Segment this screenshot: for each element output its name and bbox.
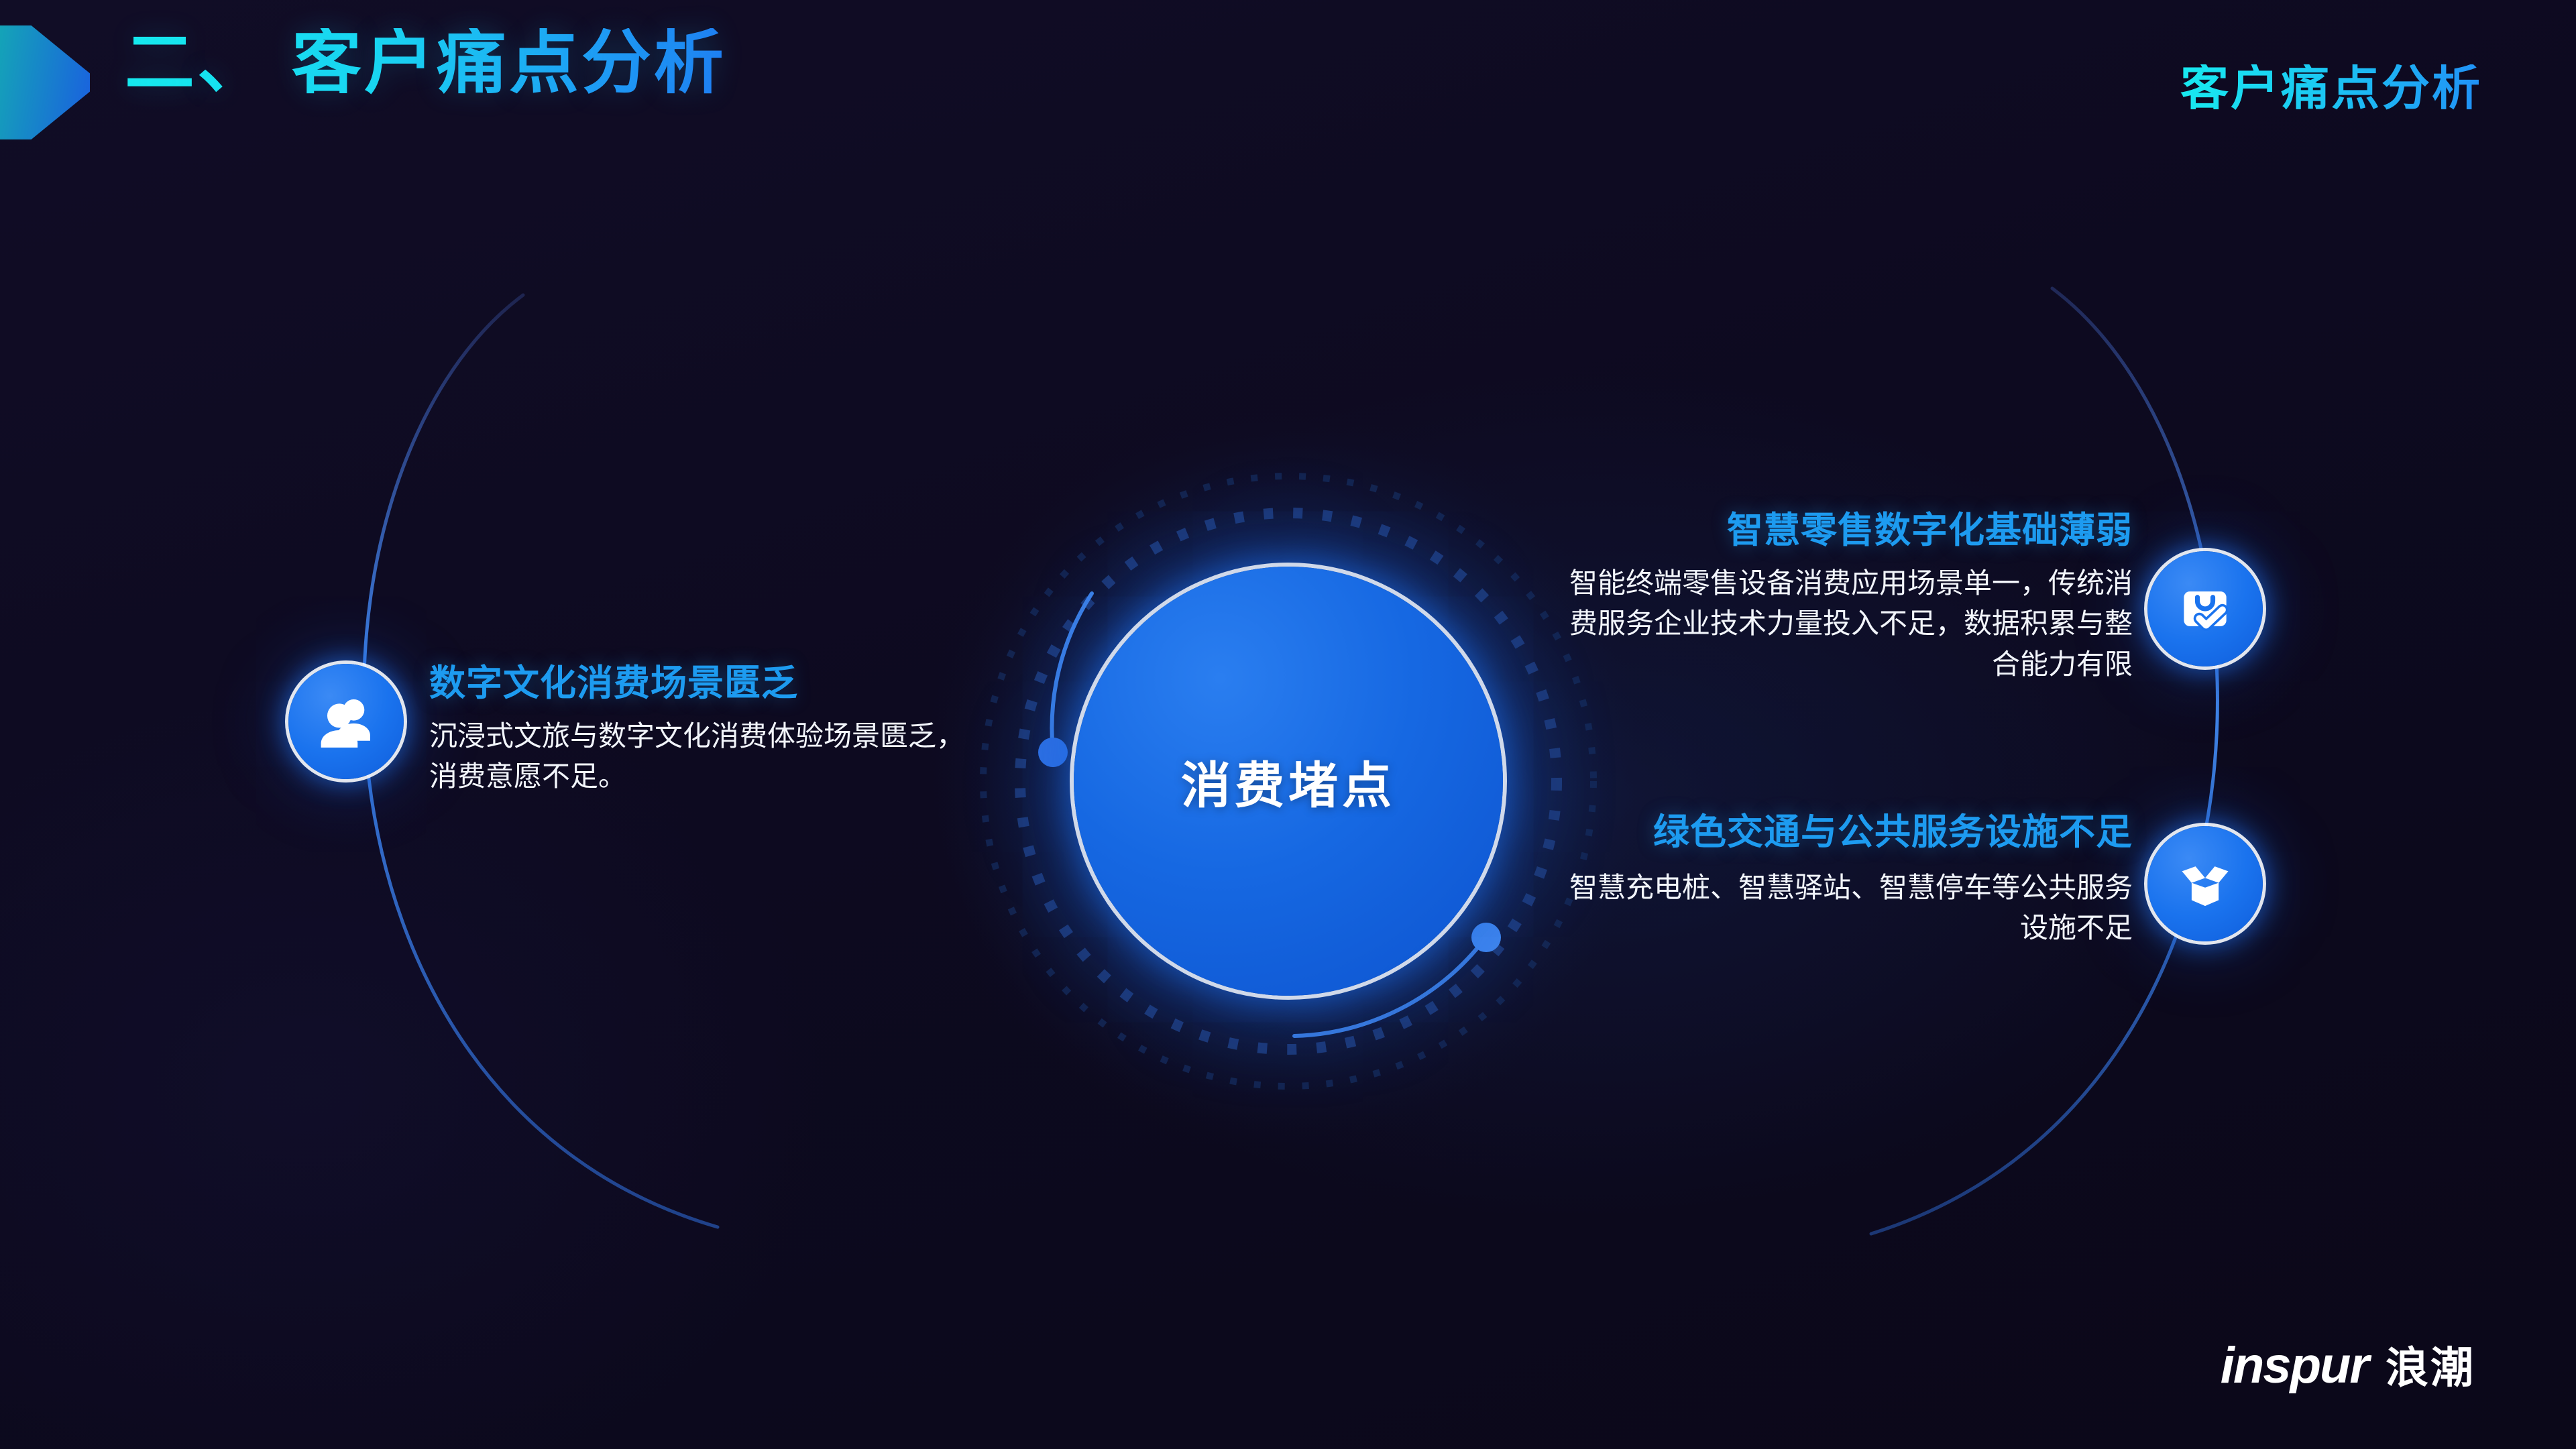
page-title: 二、 客户痛点分析	[125, 28, 726, 98]
text-block-right-bottom: 绿色交通与公共服务设施不足 智慧充电桩、智慧驿站、智慧停车等公共服务设施不足	[1556, 811, 2133, 949]
node-right-bottom-title: 绿色交通与公共服务设施不足	[1556, 811, 2133, 854]
logo-wordmark: inspur	[2221, 1336, 2368, 1395]
corner-chevron-decoration	[0, 25, 90, 139]
node-right-bottom[interactable]	[2147, 826, 2263, 941]
slide-canvas: 二、 客户痛点分析 客户痛点分析	[0, 0, 2576, 1449]
node-right-top[interactable]	[2147, 551, 2263, 666]
node-right-bottom-desc: 智慧充电桩、智慧驿站、智慧停车等公共服务设施不足	[1556, 868, 2133, 949]
text-block-right-top: 智慧零售数字化基础薄弱 智能终端零售设备消费应用场景单一，传统消费服务企业技术力…	[1556, 510, 2133, 685]
center-node-label: 消费堵点	[1181, 746, 1396, 817]
header-right-label: 客户痛点分析	[2180, 64, 2482, 113]
shopping-bag-check-icon	[2174, 578, 2236, 640]
users-icon	[315, 691, 377, 752]
text-block-left: 数字文化消费场景匮乏 沉浸式文旅与数字文化消费体验场景匮乏，消费意愿不足。	[429, 662, 966, 797]
node-left-title: 数字文化消费场景匮乏	[429, 662, 966, 705]
center-node[interactable]: 消费堵点	[1074, 567, 1503, 996]
node-left-desc: 沉浸式文旅与数字文化消费体验场景匮乏，消费意愿不足。	[429, 716, 966, 797]
node-right-top-desc: 智能终端零售设备消费应用场景单一，传统消费服务企业技术力量投入不足，数据积累与整…	[1556, 563, 2133, 685]
logo-chinese-name: 浪潮	[2386, 1334, 2475, 1395]
open-box-icon	[2174, 853, 2236, 915]
node-left[interactable]	[288, 664, 404, 779]
node-right-top-title: 智慧零售数字化基础薄弱	[1556, 510, 2133, 553]
inspur-logo: inspur 浪潮	[2221, 1334, 2475, 1395]
